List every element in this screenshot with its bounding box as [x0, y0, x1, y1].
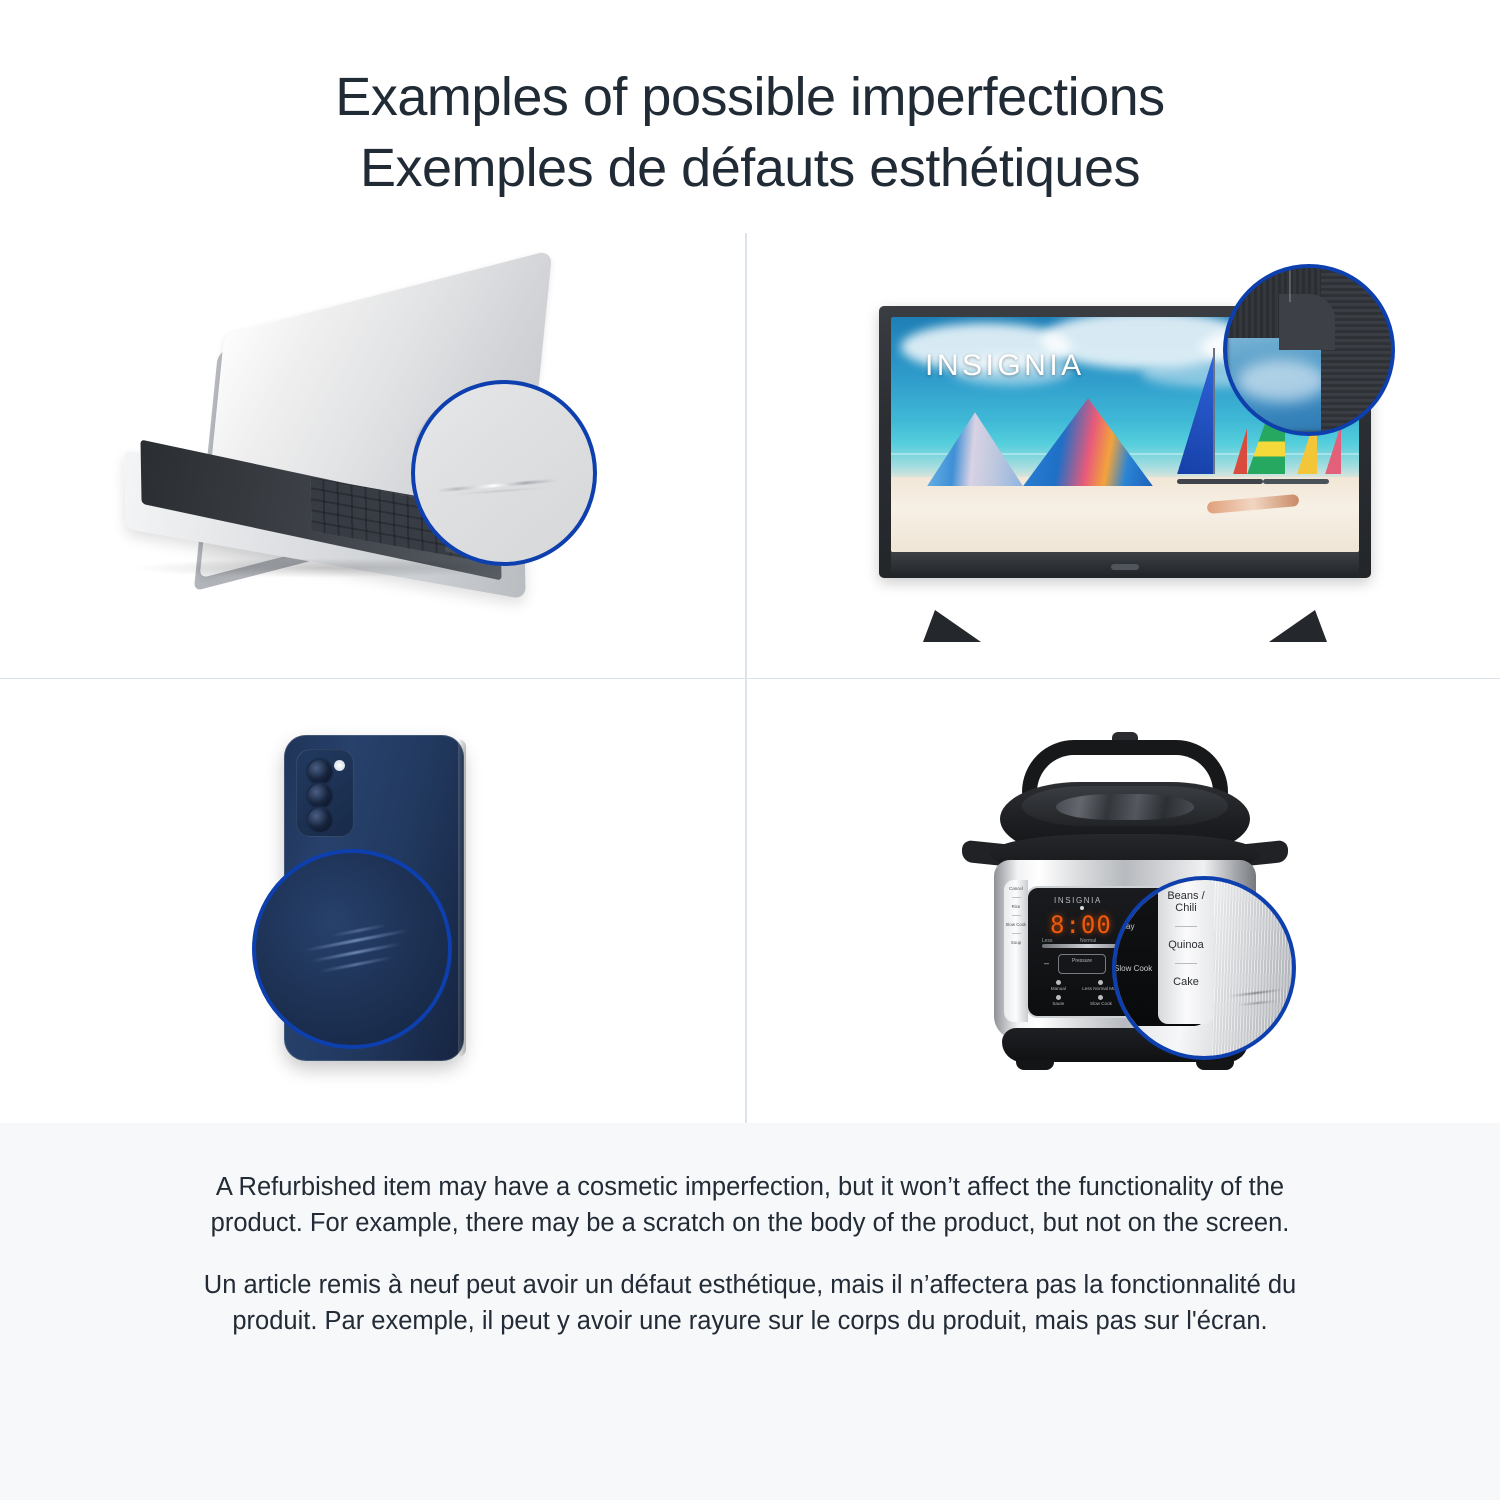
- cooker-foot: [1196, 1060, 1234, 1070]
- screen-sailboat-mast: [1213, 348, 1215, 474]
- cooker-program-button[interactable]: Saute: [1038, 995, 1079, 1006]
- cooker-button[interactable]: Rice: [1004, 904, 1028, 909]
- cooker-button-divider: [1004, 933, 1028, 934]
- footer-description: A Refurbished item may have a cosmetic i…: [0, 1123, 1500, 1500]
- page-title-french: Exemples de défauts esthétiques: [0, 133, 1500, 204]
- cooker-slider-label-less: Less: [1042, 938, 1053, 944]
- magnifier-circle-laptop: [411, 380, 597, 566]
- cooker-brand-label: INSIGNIA: [1054, 896, 1102, 905]
- magnified-panel-label: Delay: [1114, 922, 1134, 931]
- television-screen-logo: INSIGNIA: [925, 349, 1085, 383]
- cooker-lcd-display: 8:00: [1050, 912, 1116, 938]
- magnified-button-divider: [1158, 926, 1214, 927]
- cooker-button[interactable]: Soup: [1004, 940, 1028, 945]
- grid-cell-television: INSIGNIA: [750, 233, 1500, 678]
- magnified-button-column: Beans / Chili Quinoa Cake: [1158, 878, 1214, 1024]
- product-examples-grid: INSIGNIA: [0, 233, 1500, 1123]
- laptop-shadow: [126, 558, 522, 578]
- magnified-button-cake: Cake: [1158, 976, 1214, 988]
- grid-cell-pressure-cooker: Cancel Rice Slow Cook Soup Start Fish St…: [750, 678, 1500, 1123]
- screen-beach-kite: [927, 412, 1023, 486]
- screen-beach-sand: [891, 477, 1359, 552]
- laptop-illustration: [115, 290, 635, 620]
- cooker-button[interactable]: Cancel: [1004, 886, 1028, 891]
- cooker-minus-button[interactable]: –: [1044, 958, 1049, 968]
- screen-boat-hull: [1177, 479, 1263, 484]
- footer-paragraph-french: Un article remis à neuf peut avoir un dé…: [190, 1267, 1310, 1339]
- cooker-pressure-cook-button[interactable]: Pressure: [1058, 954, 1106, 974]
- magnifier-circle-pressure-cooker: Delay Slow Cook Beans / Chili Quinoa Cak…: [1112, 876, 1296, 1060]
- television-stand-leg: [1269, 610, 1327, 642]
- cooker-program-label: Manual: [1038, 986, 1079, 991]
- magnified-bezel-corner: [1279, 294, 1335, 350]
- grid-cell-smartphone: [0, 678, 750, 1123]
- cooker-status-led-icon: [1080, 906, 1084, 910]
- header: Examples of possible imperfections Exemp…: [0, 0, 1500, 205]
- smartphone-camera-module: [296, 749, 354, 837]
- cooker-foot: [1016, 1060, 1054, 1070]
- magnified-button-divider: [1158, 963, 1214, 964]
- magnified-bezel-seam: [1289, 268, 1291, 302]
- magnified-brushed-steel: [1212, 880, 1292, 1056]
- cooker-button-divider: [1004, 897, 1028, 898]
- magnified-button-beans-chili: Beans / Chili: [1158, 890, 1214, 914]
- cooker-slider-label-normal: Normal: [1080, 938, 1096, 944]
- magnifier-circle-smartphone: [252, 849, 452, 1049]
- television-led-indicator-icon: [1111, 564, 1139, 570]
- cooker-button[interactable]: Slow Cook: [1004, 922, 1028, 927]
- magnifier-circle-television: [1223, 264, 1395, 436]
- cooker-program-label: Saute: [1038, 1001, 1079, 1006]
- screen-sail-red: [1233, 428, 1247, 474]
- television-stand-leg: [923, 610, 981, 642]
- camera-flash-icon: [334, 760, 345, 771]
- cooker-left-button-column[interactable]: Cancel Rice Slow Cook Soup: [1004, 880, 1028, 1022]
- cooker-button-divider: [1004, 915, 1028, 916]
- footer-paragraph-english: A Refurbished item may have a cosmetic i…: [190, 1169, 1310, 1241]
- magnified-panel-label: Slow Cook: [1114, 964, 1152, 973]
- magnifier-content-television: [1227, 268, 1391, 432]
- cooker-pressure-cook-label: Pressure: [1059, 958, 1105, 964]
- screen-beach-kite: [1023, 398, 1153, 486]
- page-title-english: Examples of possible imperfections: [0, 62, 1500, 133]
- grid-cell-laptop: [0, 233, 750, 678]
- magnified-button-quinoa: Quinoa: [1158, 939, 1214, 951]
- infographic-page: Examples of possible imperfections Exemp…: [0, 0, 1500, 1500]
- television-illustration: INSIGNIA: [865, 270, 1385, 640]
- cooker-program-button[interactable]: Manual: [1038, 980, 1079, 991]
- magnified-screen-cloud: [1237, 360, 1327, 402]
- cooker-lid-graphic: [1056, 794, 1194, 820]
- smartphone-illustration: [260, 735, 490, 1065]
- screen-boat-hull: [1263, 479, 1329, 484]
- television-bottom-bezel: [891, 552, 1359, 574]
- magnified-bezel-right: [1321, 268, 1391, 432]
- pressure-cooker-illustration: Cancel Rice Slow Cook Soup Start Fish St…: [960, 730, 1290, 1070]
- camera-lens-icon: [306, 806, 334, 834]
